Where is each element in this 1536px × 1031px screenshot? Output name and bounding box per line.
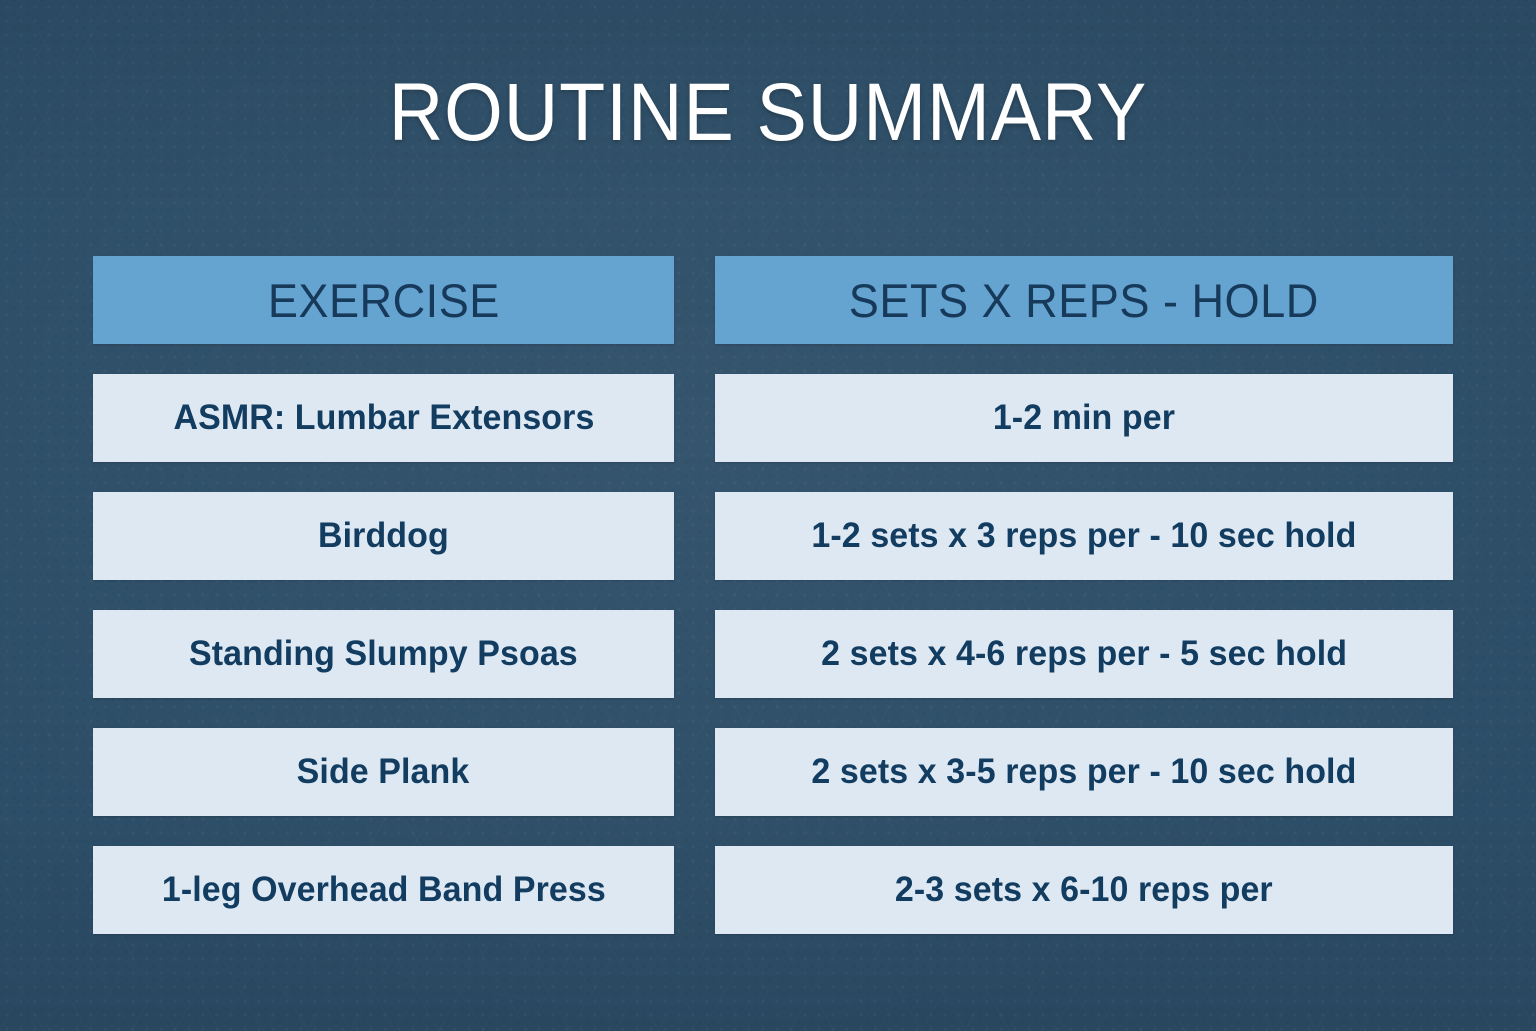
cell-exercise-label: Side Plank — [297, 752, 470, 792]
column-header-sets-reps-hold-label: SETS X REPS - HOLD — [849, 273, 1319, 328]
table-row: Standing Slumpy Psoas 2 sets x 4-6 reps … — [93, 610, 1453, 698]
column-header-exercise-label: EXERCISE — [267, 273, 499, 328]
table-row: ASMR: Lumbar Extensors 1-2 min per — [93, 374, 1453, 462]
column-header-exercise: EXERCISE — [93, 256, 674, 344]
cell-sets-reps-hold-label: 1-2 min per — [993, 398, 1175, 438]
table-row: Side Plank 2 sets x 3-5 reps per - 10 se… — [93, 728, 1453, 816]
routine-summary-table: EXERCISE SETS X REPS - HOLD ASMR: Lumbar… — [93, 256, 1453, 934]
cell-exercise: ASMR: Lumbar Extensors — [93, 374, 674, 462]
slide-canvas: ROUTINE SUMMARY EXERCISE SETS X REPS - H… — [0, 0, 1536, 1031]
cell-sets-reps-hold: 2 sets x 3-5 reps per - 10 sec hold — [715, 728, 1453, 816]
table-row: 1-leg Overhead Band Press 2-3 sets x 6-1… — [93, 846, 1453, 934]
cell-sets-reps-hold-label: 1-2 sets x 3 reps per - 10 sec hold — [812, 516, 1357, 556]
cell-sets-reps-hold-label: 2 sets x 3-5 reps per - 10 sec hold — [812, 752, 1357, 792]
cell-sets-reps-hold: 2 sets x 4-6 reps per - 5 sec hold — [715, 610, 1453, 698]
column-header-sets-reps-hold: SETS X REPS - HOLD — [715, 256, 1453, 344]
cell-exercise-label: Standing Slumpy Psoas — [189, 634, 578, 674]
cell-exercise-label: 1-leg Overhead Band Press — [162, 870, 606, 910]
cell-sets-reps-hold: 1-2 sets x 3 reps per - 10 sec hold — [715, 492, 1453, 580]
cell-sets-reps-hold-label: 2 sets x 4-6 reps per - 5 sec hold — [821, 634, 1347, 674]
cell-sets-reps-hold: 2-3 sets x 6-10 reps per — [715, 846, 1453, 934]
page-title: ROUTINE SUMMARY — [61, 72, 1474, 154]
cell-exercise: Standing Slumpy Psoas — [93, 610, 674, 698]
cell-exercise: Birddog — [93, 492, 674, 580]
table-row: Birddog 1-2 sets x 3 reps per - 10 sec h… — [93, 492, 1453, 580]
cell-exercise: Side Plank — [93, 728, 674, 816]
cell-exercise-label: ASMR: Lumbar Extensors — [173, 398, 594, 438]
table-header-row: EXERCISE SETS X REPS - HOLD — [93, 256, 1453, 344]
cell-exercise-label: Birddog — [318, 516, 449, 556]
cell-sets-reps-hold-label: 2-3 sets x 6-10 reps per — [895, 870, 1273, 910]
cell-sets-reps-hold: 1-2 min per — [715, 374, 1453, 462]
cell-exercise: 1-leg Overhead Band Press — [93, 846, 674, 934]
